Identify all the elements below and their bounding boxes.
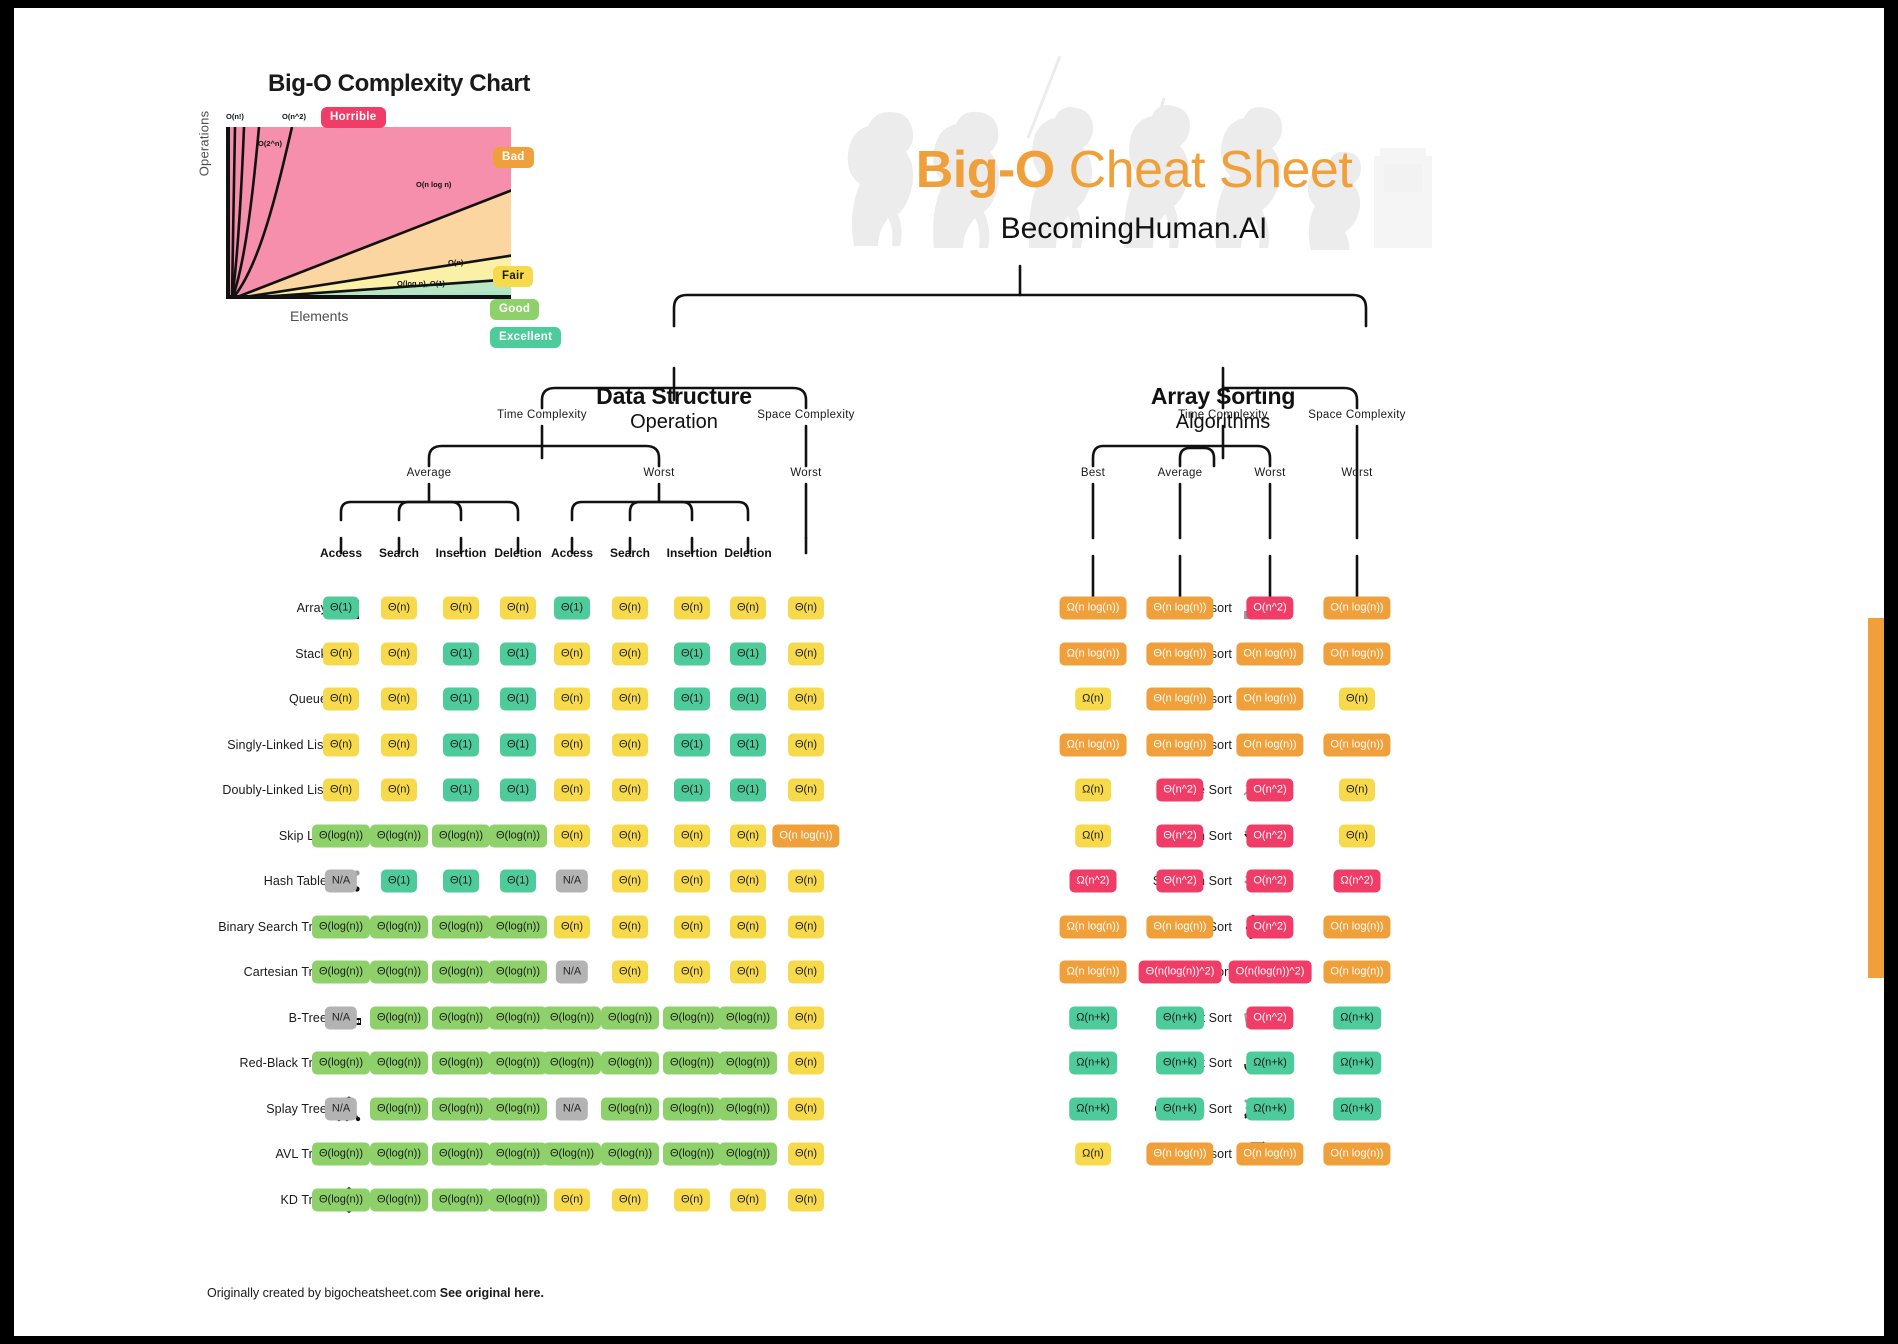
footer-credit: Originally created by bigocheatsheet.com… (207, 1286, 544, 1300)
footer-text: Originally created by bigocheatsheet.com (207, 1286, 440, 1300)
array-sorting-cell: Ω(n+k) (1069, 1052, 1117, 1075)
data-structure-cell: Θ(log(n)) (489, 1188, 547, 1211)
data-structure-row-label: Queue (289, 692, 327, 706)
array-sorting-cell: Ω(n+k) (1333, 1097, 1381, 1120)
array-sorting-cell: O(n log(n)) (1323, 1143, 1390, 1166)
ds-column-header-7: Insertion (667, 546, 718, 560)
data-structure-cell: Θ(log(n)) (312, 1143, 370, 1166)
data-structure-cell: Θ(n) (612, 824, 648, 847)
data-structure-cell: N/A (325, 1097, 357, 1120)
array-sorting-cell: O(n^2) (1246, 597, 1293, 620)
array-sorting-cell: Ω(n log(n)) (1060, 733, 1127, 756)
page-subtitle: BecomingHuman.AI (814, 212, 1454, 246)
array-sorting-cell: O(n(log(n))^2) (1229, 961, 1312, 984)
ds-column-header-1: Access (320, 546, 362, 560)
data-structure-cell: Θ(log(n)) (663, 1143, 721, 1166)
ds-column-header-4: Deletion (494, 546, 541, 560)
data-structure-cell: Θ(n) (612, 688, 648, 711)
data-structure-row-label: Hash Table (264, 874, 327, 888)
curve-label-n: O(n) (448, 258, 463, 267)
data-structure-cell: Θ(log(n)) (370, 1143, 428, 1166)
data-structure-cell: Θ(n) (788, 733, 824, 756)
data-structure-cell: Θ(n) (788, 961, 824, 984)
chart-title: Big-O Complexity Chart (204, 70, 594, 98)
ds-column-header-8: Deletion (724, 546, 771, 560)
data-structure-cell: N/A (325, 870, 357, 893)
array-sorting-cell: Ω(n) (1075, 688, 1111, 711)
poster-header: Big-O Cheat Sheet BecomingHuman.AI (814, 36, 1454, 266)
array-sorting-cell: Θ(n^2) (1156, 870, 1203, 893)
as-branch-space-complexity: Space Complexity (1308, 409, 1405, 421)
data-structure-cell: Θ(n) (554, 1188, 590, 1211)
array-sorting-cell: Θ(n^2) (1156, 824, 1203, 847)
array-sorting-cell: Ω(n+k) (1333, 1052, 1381, 1075)
data-structure-cell: Θ(n) (612, 915, 648, 938)
legend-fair: Fair (493, 266, 533, 287)
data-structure-cell: N/A (556, 1097, 588, 1120)
ds-space-worst: Worst (790, 467, 821, 479)
data-structure-cell: Θ(1) (730, 688, 766, 711)
data-structure-cell: Θ(log(n)) (489, 1143, 547, 1166)
array-sorting-cell: Θ(n log(n)) (1146, 1143, 1213, 1166)
data-structure-cell: Θ(n) (788, 642, 824, 665)
data-structure-cell: Θ(1) (674, 642, 710, 665)
ds-title-line1: Data Structure (524, 383, 824, 410)
footer-link[interactable]: See original here. (440, 1286, 544, 1300)
data-structure-cell: Θ(log(n)) (370, 824, 428, 847)
data-structure-cell: Θ(log(n)) (432, 1143, 490, 1166)
array-sorting-cell: Ω(n) (1075, 824, 1111, 847)
ds-branch-time-complexity: Time Complexity (497, 409, 587, 421)
array-sorting-cell: Θ(n(log(n))^2) (1139, 961, 1222, 984)
data-structure-cell: Θ(n) (381, 779, 417, 802)
data-structure-cell: N/A (556, 961, 588, 984)
ds-column-header-3: Insertion (436, 546, 487, 560)
data-structure-cell: Θ(n) (500, 597, 536, 620)
page-title-rest: Cheat Sheet (1055, 141, 1353, 199)
data-structure-cell: Θ(n) (612, 779, 648, 802)
array-sorting-cell: Ω(n+k) (1069, 1097, 1117, 1120)
data-structure-cell: Θ(log(n)) (489, 824, 547, 847)
data-structure-cell: Θ(log(n)) (489, 1052, 547, 1075)
data-structure-cell: Θ(log(n)) (601, 1143, 659, 1166)
legend-horrible: Horrible (321, 107, 386, 128)
data-structure-cell: Θ(log(n)) (601, 1052, 659, 1075)
array-sorting-cell: Ω(n+k) (1246, 1052, 1294, 1075)
data-structure-cell: Θ(n) (443, 597, 479, 620)
array-sorting-cell: Θ(n+k) (1156, 1097, 1204, 1120)
curve-label-log-n-and-1: O(log n), O(1) (397, 279, 445, 288)
array-sorting-cell: Ω(n) (1075, 1143, 1111, 1166)
data-structure-cell: Θ(log(n)) (432, 915, 490, 938)
curve-label-n-factorial: O(n!) (226, 112, 244, 121)
data-structure-cell: Θ(1) (500, 870, 536, 893)
chart-x-axis-label: Elements (290, 308, 348, 324)
data-structure-cell: Θ(n) (554, 642, 590, 665)
data-structure-cell: Θ(n) (554, 824, 590, 847)
as-column-header-2: Average (1158, 467, 1203, 479)
data-structure-cell: Θ(n) (788, 688, 824, 711)
data-structure-row-label: Singly-Linked List (227, 738, 327, 752)
array-sorting-cell: O(n log(n)) (1236, 688, 1303, 711)
data-structure-cell: Θ(log(n)) (663, 1097, 721, 1120)
data-structure-cell: Θ(n) (612, 1188, 648, 1211)
data-structure-cell: Θ(n) (554, 915, 590, 938)
array-sorting-cell: O(n log(n)) (1236, 1143, 1303, 1166)
data-structure-cell: Θ(n) (730, 597, 766, 620)
chart-plot-area: O(n!) O(2^n) O(n^2) O(n log n) O(n) O(lo… (226, 127, 511, 299)
data-structure-cell: Θ(log(n)) (489, 915, 547, 938)
data-structure-cell: Θ(log(n)) (601, 1097, 659, 1120)
array-sorting-cell: Θ(n) (1339, 688, 1375, 711)
data-structure-cell: Θ(n) (612, 642, 648, 665)
as-column-header-1: Best (1081, 467, 1105, 479)
data-structure-cell: Θ(log(n)) (370, 961, 428, 984)
data-structure-cell: Θ(n) (788, 779, 824, 802)
array-sorting-cell: Ω(n log(n)) (1060, 597, 1127, 620)
big-o-complexity-chart: Big-O Complexity Chart (204, 70, 624, 390)
data-structure-cell: Θ(n) (323, 688, 359, 711)
chart-y-axis-label: Operations (196, 111, 211, 177)
data-structure-cell: Θ(n) (323, 642, 359, 665)
data-structure-cell: Θ(n) (788, 915, 824, 938)
data-structure-cell: Θ(1) (500, 779, 536, 802)
data-structure-cell: Θ(n) (730, 824, 766, 847)
array-sorting-cell: Ω(n^2) (1334, 870, 1381, 893)
data-structure-cell: Θ(1) (443, 779, 479, 802)
data-structure-cell: Θ(log(n)) (312, 1052, 370, 1075)
data-structure-cell: Θ(n) (788, 1052, 824, 1075)
data-structure-cell: Θ(log(n)) (489, 1097, 547, 1120)
array-sorting-cell: Ω(n^2) (1070, 870, 1117, 893)
array-sorting-cell: Ω(n+k) (1246, 1097, 1294, 1120)
data-structure-cell: Θ(log(n)) (432, 1097, 490, 1120)
array-sorting-cell: Θ(n+k) (1156, 1006, 1204, 1029)
data-structure-cell: N/A (556, 870, 588, 893)
data-structure-row-label: Doubly-Linked List (222, 783, 327, 797)
data-structure-cell: Θ(1) (443, 733, 479, 756)
data-structure-cell: Θ(log(n)) (312, 824, 370, 847)
curve-label-n-squared: O(n^2) (282, 112, 306, 121)
data-structure-cell: Θ(log(n)) (543, 1006, 601, 1029)
array-sorting-cell: O(n log(n)) (1323, 961, 1390, 984)
array-sorting-cell: Ω(n+k) (1069, 1006, 1117, 1029)
array-sorting-cell: O(n^2) (1246, 824, 1293, 847)
array-sorting-cell: Ω(n) (1075, 779, 1111, 802)
data-structure-cell: Θ(n) (788, 1006, 824, 1029)
array-sorting-cell: Θ(n log(n)) (1146, 688, 1213, 711)
page-title: Big-O Cheat Sheet (814, 144, 1454, 196)
data-structure-cell: Θ(n) (788, 1097, 824, 1120)
right-edge-accent-bar (1868, 618, 1884, 978)
ds-column-header-6: Search (610, 546, 650, 560)
data-structure-cell: Θ(1) (443, 870, 479, 893)
array-sorting-cell: Ω(n+k) (1333, 1006, 1381, 1029)
data-structure-cell: Θ(log(n)) (432, 824, 490, 847)
data-structure-cell: Θ(n) (612, 597, 648, 620)
ds-column-header-2: Search (379, 546, 419, 560)
array-sorting-cell: Θ(n^2) (1156, 779, 1203, 802)
data-structure-cell: Θ(1) (500, 688, 536, 711)
data-structure-cell: Θ(n) (612, 733, 648, 756)
data-structure-cell: Θ(log(n)) (543, 1143, 601, 1166)
array-sorting-cell: Ω(n log(n)) (1060, 961, 1127, 984)
array-sorting-cell: Ω(n log(n)) (1060, 915, 1127, 938)
data-structure-row-label: Splay Tree (266, 1102, 327, 1116)
data-structure-cell: Θ(n) (554, 688, 590, 711)
data-structure-cell: Θ(log(n)) (370, 1188, 428, 1211)
data-structure-cell: Θ(n) (674, 915, 710, 938)
array-sorting-cell: Θ(n+k) (1156, 1052, 1204, 1075)
legend-excellent: Excellent (490, 327, 561, 348)
array-sorting-cell: O(n^2) (1246, 915, 1293, 938)
data-structure-cell: Θ(1) (730, 642, 766, 665)
data-structure-cell: Θ(log(n)) (370, 1052, 428, 1075)
data-structure-cell: Θ(log(n)) (370, 915, 428, 938)
data-structure-cell: Θ(log(n)) (312, 1188, 370, 1211)
data-structure-cell: Θ(1) (730, 733, 766, 756)
legend-bad: Bad (493, 147, 534, 168)
array-sorting-cell: O(n log(n)) (1323, 733, 1390, 756)
data-structure-cell: Θ(1) (674, 779, 710, 802)
data-structure-cell: Θ(1) (323, 597, 359, 620)
data-structure-cell: N/A (325, 1006, 357, 1029)
data-structure-cell: Θ(n) (730, 915, 766, 938)
data-structure-cell: Θ(n) (674, 597, 710, 620)
chart-regions-and-curves (230, 127, 511, 295)
data-structure-cell: Θ(log(n)) (370, 1006, 428, 1029)
array-sorting-cell: O(n log(n)) (1323, 597, 1390, 620)
data-structure-cell: Θ(n) (674, 1188, 710, 1211)
data-structure-cell: Θ(n) (612, 961, 648, 984)
data-structure-cell: Θ(n) (323, 733, 359, 756)
data-structure-cell: Θ(log(n)) (312, 915, 370, 938)
data-structure-cell: Θ(n) (788, 1188, 824, 1211)
data-structure-cell: Θ(log(n)) (432, 961, 490, 984)
poster-canvas: Big-O Complexity Chart (14, 8, 1884, 1336)
data-structure-cell: Θ(n) (788, 597, 824, 620)
curve-label-2-pow-n: O(2^n) (258, 139, 282, 148)
ds-branch-space-complexity: Space Complexity (757, 409, 854, 421)
data-structure-cell: Θ(n) (381, 642, 417, 665)
data-structure-cell: Θ(1) (500, 642, 536, 665)
data-structure-cell: Θ(log(n)) (719, 1052, 777, 1075)
data-structure-cell: Θ(n) (788, 1143, 824, 1166)
data-structure-row-label: Binary Search Tree (218, 920, 327, 934)
array-sorting-cell: Θ(n log(n)) (1146, 597, 1213, 620)
data-structure-cell: Θ(n) (730, 1188, 766, 1211)
array-sorting-cell: Θ(n log(n)) (1146, 733, 1213, 756)
array-sorting-cell: O(n^2) (1246, 1006, 1293, 1029)
as-branch-time-complexity: Time Complexity (1178, 409, 1268, 421)
data-structure-cell: O(n log(n)) (772, 824, 839, 847)
ds-column-header-5: Access (551, 546, 593, 560)
data-structure-cell: Θ(n) (674, 870, 710, 893)
data-structure-cell: Θ(log(n)) (489, 1006, 547, 1029)
data-structure-cell: Θ(log(n)) (432, 1006, 490, 1029)
curve-label-n-log-n: O(n log n) (416, 180, 451, 189)
data-structure-cell: Θ(n) (554, 733, 590, 756)
legend-good: Good (490, 299, 539, 320)
data-structure-cell: Θ(n) (674, 824, 710, 847)
array-sorting-cell: O(n^2) (1246, 779, 1293, 802)
data-structure-cell: Θ(n) (788, 870, 824, 893)
as-title-line1: Array Sorting (1073, 383, 1373, 410)
data-structure-cell: Θ(log(n)) (543, 1052, 601, 1075)
array-sorting-cell: O(n^2) (1246, 870, 1293, 893)
ds-sub-worst: Worst (643, 467, 674, 479)
ds-sub-average: Average (407, 467, 452, 479)
data-structure-cell: Θ(n) (730, 961, 766, 984)
data-structure-cell: Θ(n) (730, 870, 766, 893)
data-structure-cell: Θ(log(n)) (601, 1006, 659, 1029)
data-structure-cell: Θ(1) (381, 870, 417, 893)
data-structure-row-label: B-Tree (289, 1011, 327, 1025)
data-structure-cell: Θ(log(n)) (663, 1052, 721, 1075)
array-sorting-cell: O(n log(n)) (1323, 915, 1390, 938)
as-column-header-4: Worst (1341, 467, 1372, 479)
data-structure-cell: Θ(log(n)) (719, 1006, 777, 1029)
data-structure-cell: Θ(1) (443, 688, 479, 711)
data-structure-cell: Θ(log(n)) (312, 961, 370, 984)
data-structure-cell: Θ(log(n)) (432, 1188, 490, 1211)
data-structure-cell: Θ(log(n)) (370, 1097, 428, 1120)
data-structure-cell: Θ(1) (674, 733, 710, 756)
data-structure-cell: Θ(1) (674, 688, 710, 711)
array-sorting-cell: O(n log(n)) (1236, 642, 1303, 665)
array-sorting-cell: Ω(n log(n)) (1060, 642, 1127, 665)
data-structure-cell: Θ(n) (323, 779, 359, 802)
data-structure-cell: Θ(1) (443, 642, 479, 665)
array-sorting-cell: Θ(n log(n)) (1146, 915, 1213, 938)
as-column-header-3: Worst (1254, 467, 1285, 479)
data-structure-cell: Θ(log(n)) (663, 1006, 721, 1029)
data-structure-cell: Θ(n) (612, 870, 648, 893)
data-structure-cell: Θ(log(n)) (719, 1097, 777, 1120)
array-sorting-cell: O(n log(n)) (1236, 733, 1303, 756)
data-structure-cell: Θ(1) (554, 597, 590, 620)
array-sorting-cell: Θ(n log(n)) (1146, 642, 1213, 665)
array-sorting-cell: O(n log(n)) (1323, 642, 1390, 665)
data-structure-cell: Θ(1) (500, 733, 536, 756)
data-structure-cell: Θ(n) (381, 688, 417, 711)
data-structure-cell: Θ(log(n)) (489, 961, 547, 984)
data-structure-cell: Θ(n) (381, 597, 417, 620)
data-structure-cell: Θ(log(n)) (432, 1052, 490, 1075)
data-structure-cell: Θ(n) (381, 733, 417, 756)
data-structure-cell: Θ(1) (730, 779, 766, 802)
data-structure-cell: Θ(n) (554, 779, 590, 802)
data-structure-cell: Θ(n) (674, 961, 710, 984)
data-structure-cell: Θ(log(n)) (719, 1143, 777, 1166)
array-sorting-cell: Θ(n) (1339, 824, 1375, 847)
array-sorting-cell: Θ(n) (1339, 779, 1375, 802)
page-title-bold: Big-O (916, 141, 1055, 199)
